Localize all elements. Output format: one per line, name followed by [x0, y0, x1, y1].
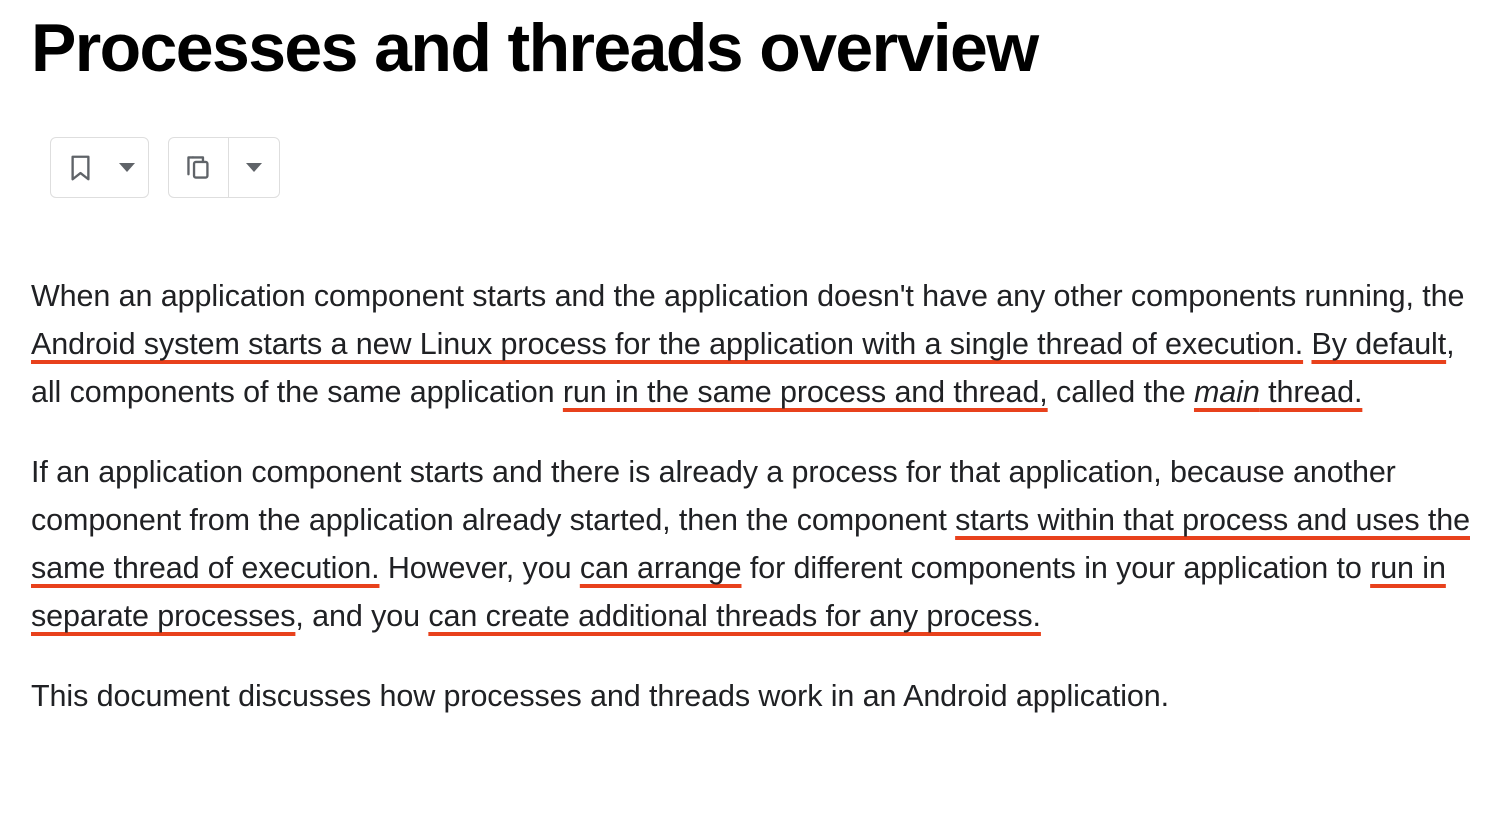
page-title: Processes and threads overview [31, 14, 1038, 82]
paragraph-1: When an application component starts and… [31, 272, 1473, 416]
highlighted-text: run in the same process and thread, [563, 375, 1048, 409]
bookmark-button-group[interactable] [50, 137, 149, 198]
paragraph-3: This document discusses how processes an… [31, 672, 1473, 720]
document-page: Processes and threads overview [0, 0, 1502, 834]
caret-down-icon [119, 163, 135, 172]
copy-icon [184, 153, 213, 182]
highlighted-text: By default [1311, 327, 1446, 361]
document-body: When an application component starts and… [31, 272, 1473, 720]
caret-down-icon [246, 163, 262, 172]
bookmark-icon [67, 153, 94, 183]
copy-button[interactable] [169, 138, 228, 197]
bookmark-dropdown-button[interactable] [110, 138, 148, 197]
highlighted-text: starts within that process and uses the … [31, 503, 1470, 585]
highlighted-text: can create additional threads for any pr… [428, 599, 1041, 633]
highlighted-text: Android system starts a new Linux proces… [31, 327, 1303, 361]
paragraph-2: If an application component starts and t… [31, 448, 1473, 640]
highlighted-text: thread. [1260, 375, 1363, 409]
copy-button-group[interactable] [168, 137, 280, 198]
document-toolbar [50, 137, 280, 198]
bookmark-button[interactable] [51, 138, 110, 197]
copy-dropdown-button[interactable] [229, 138, 279, 197]
emphasis-text: main [1194, 375, 1260, 409]
highlighted-text: can arrange [580, 551, 742, 585]
highlighted-text: main [1194, 375, 1260, 409]
